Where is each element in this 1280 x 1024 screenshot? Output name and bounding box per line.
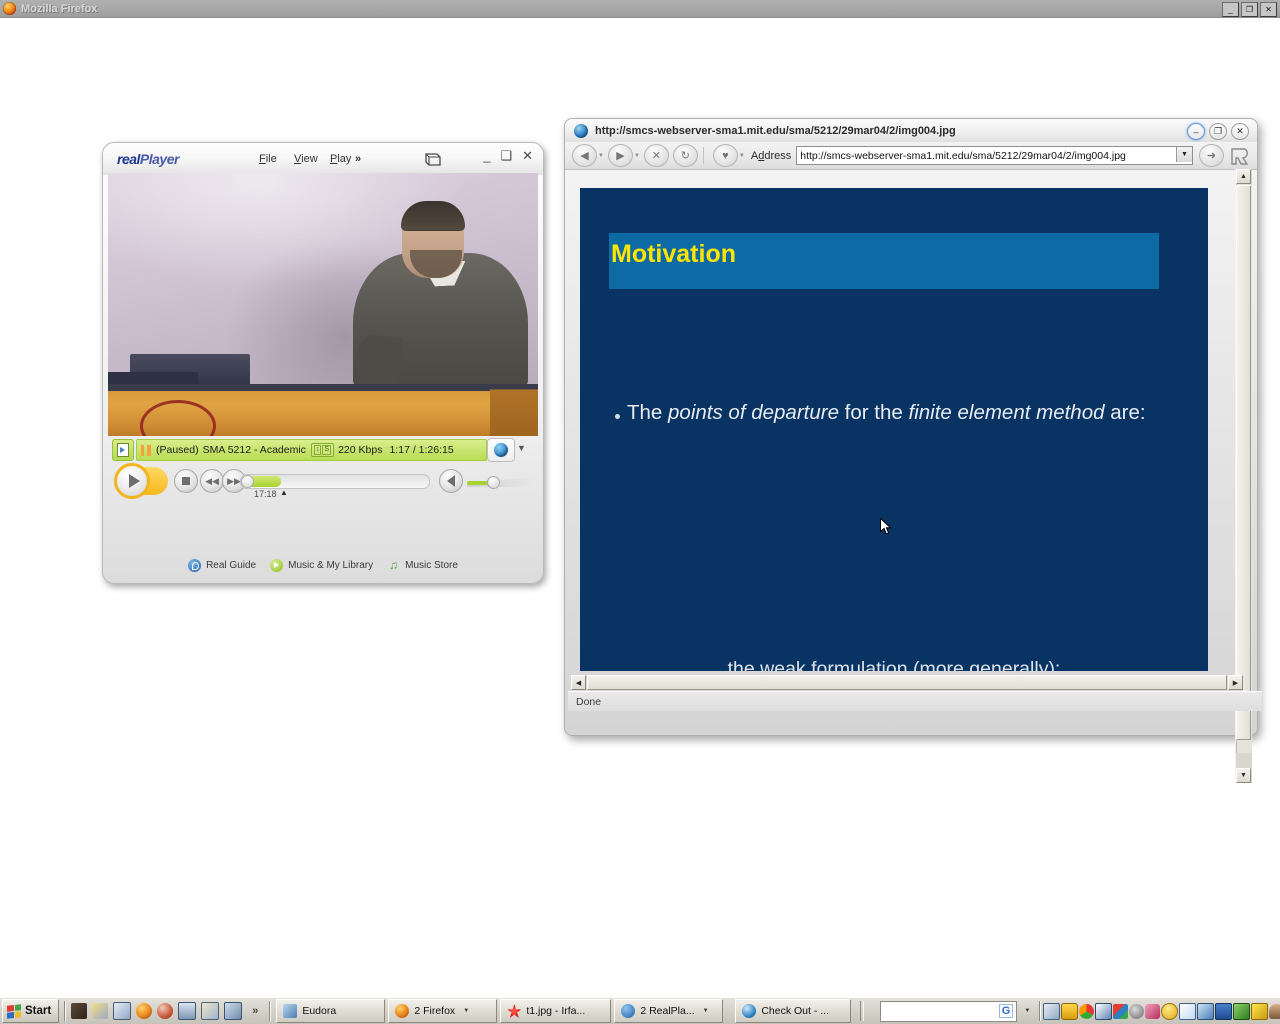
taskbar-item-firefox[interactable]: 2 Firefox ▼ — [388, 999, 497, 1023]
realplayer-menu-overflow[interactable]: » — [355, 153, 361, 165]
search-input[interactable]: G — [880, 1001, 1017, 1022]
realplayer-logo-real: real — [117, 151, 140, 167]
browser-titlebar: http://smcs-webserver-sma1.mit.edu/sma/5… — [565, 119, 1257, 142]
realplayer-maximize-button[interactable]: ❑ — [500, 151, 512, 161]
tray-icon-4[interactable] — [1095, 1003, 1112, 1020]
quicklaunch-overflow-button[interactable]: » — [252, 1005, 258, 1017]
eq-right-glyph: S — [322, 445, 331, 455]
video-display[interactable] — [108, 173, 538, 436]
browser-toolbar: ◀ ▼ ▶ ▼ ✕ ↻ ♥ ▼ Address http://smcs-webs… — [565, 142, 1257, 170]
real-logo-icon[interactable] — [1228, 145, 1251, 166]
scroll-left-button[interactable]: ◀ — [571, 675, 586, 690]
realplayer-transport-controls: ◀◀ ▶▶ 17:18 ▲ — [112, 465, 534, 501]
music-library-icon — [270, 559, 283, 572]
realplayer-window: realPlayer FFileile View Play » _ ❑ ✕ — [102, 142, 544, 584]
music-store-icon: ♫ — [387, 559, 400, 572]
mouse-cursor — [880, 518, 892, 536]
realplayer-menu-play[interactable]: Play — [330, 153, 351, 165]
toolbar-separator — [703, 147, 704, 164]
go-button[interactable]: ➜ — [1199, 144, 1224, 167]
realplayer-logo: realPlayer — [117, 151, 179, 167]
tray-icon-3[interactable] — [1079, 1004, 1094, 1019]
address-value: http://smcs-webserver-sma1.mit.edu/sma/5… — [800, 150, 1126, 162]
scroll-right-button[interactable]: ▶ — [1228, 675, 1243, 690]
lecturer-arm — [356, 334, 403, 388]
bullet-dot-icon — [615, 414, 620, 419]
address-dropdown-icon[interactable]: ▼ — [1176, 147, 1192, 162]
browser-horizontal-scrollbar[interactable]: ◀ ▶ — [571, 675, 1243, 691]
quicklaunch-icon-7[interactable] — [201, 1002, 219, 1020]
taskbar-item-realplayer-dropdown-icon[interactable]: ▼ — [703, 1008, 709, 1014]
windows-logo-icon — [7, 1004, 21, 1018]
tray-icon-1[interactable] — [1043, 1003, 1060, 1020]
podium — [108, 384, 538, 436]
lecturer-glasses — [408, 230, 460, 240]
tray-shield-icon[interactable] — [1215, 1003, 1232, 1020]
taskbar-item-firefox-label: 2 Firefox — [414, 1005, 455, 1017]
quicklaunch-icon-6[interactable] — [178, 1002, 196, 1020]
realplayer-status-row: (Paused) SMA 5212 - Academic ↕ S 220 Kbp… — [112, 439, 534, 461]
stop-button[interactable]: ✕ — [644, 144, 669, 167]
previous-button[interactable]: ◀◀ — [200, 469, 224, 493]
browser-status-text: Done — [576, 696, 601, 708]
seek-time-label: 17:18 — [254, 489, 277, 499]
tray-icon-9[interactable] — [1179, 1003, 1196, 1020]
eq-left-glyph: ↕ — [314, 445, 322, 455]
realplayer-shortcut-links: Real Guide Music & My Library ♫ Music St… — [103, 554, 543, 576]
bullet-mid: for the — [839, 401, 909, 424]
seek-slider[interactable] — [240, 474, 430, 489]
ie-icon — [742, 1004, 756, 1018]
quicklaunch-icon-1[interactable] — [71, 1003, 87, 1019]
quicklaunch-firefox-icon[interactable] — [136, 1003, 152, 1019]
paused-indicator-icon — [141, 445, 151, 456]
tray-smiley-icon[interactable] — [1161, 1003, 1178, 1020]
seek-marker-icon: ▲ — [280, 488, 288, 497]
volume-icon[interactable] — [439, 469, 463, 493]
browser-window-buttons: – ❐ ✕ — [1187, 123, 1249, 140]
taskbar-separator-2 — [269, 1001, 271, 1021]
real-guide-icon — [188, 559, 201, 572]
taskbar-item-realplayer-label: 2 RealPla... — [640, 1005, 694, 1017]
favorites-dropdown-icon[interactable]: ▼ — [739, 153, 745, 159]
real-guide-link[interactable]: Real Guide — [188, 559, 256, 572]
realplayer-menu-file[interactable]: FFileile — [259, 153, 277, 165]
tray-icon-10[interactable] — [1197, 1003, 1214, 1020]
scroll-down-button[interactable]: ▼ — [1236, 768, 1251, 783]
realplayer-globe-button[interactable] — [487, 438, 515, 462]
taskbar: Start » Eudora 2 Firefox ▼ — [0, 997, 1280, 1024]
hscroll-thumb[interactable] — [587, 675, 1227, 690]
firefox-maximize-button[interactable]: ❐ — [1241, 2, 1258, 17]
start-button[interactable]: Start — [2, 999, 59, 1023]
quicklaunch-icon-3[interactable] — [113, 1002, 131, 1020]
slide-bullet-text: The points of departure for the finite e… — [627, 398, 1157, 428]
browser-minimize-button[interactable]: – — [1187, 123, 1205, 140]
forward-dropdown-icon[interactable]: ▼ — [634, 153, 640, 159]
address-input[interactable]: http://smcs-webserver-sma1.mit.edu/sma/5… — [796, 146, 1193, 165]
bullet-prefix: The — [627, 401, 668, 424]
browser-status-bar: Done — [568, 691, 1262, 711]
slide-page-content: Motivation The points of departure for t… — [580, 188, 1208, 671]
stream-quality-icon: ↕ S — [311, 443, 334, 457]
firefox-close-button[interactable]: ✕ — [1260, 2, 1277, 17]
browser-window-icon — [574, 124, 588, 138]
real-guide-label: Real Guide — [206, 560, 256, 571]
browser-title: http://smcs-webserver-sma1.mit.edu/sma/5… — [595, 125, 956, 137]
time-label: 1:17 / 1:26:15 — [389, 444, 453, 456]
realplayer-menu-view[interactable]: View — [294, 153, 318, 165]
bitrate-label: 220 Kbps — [338, 444, 382, 456]
music-library-link[interactable]: Music & My Library — [270, 559, 373, 572]
realplayer-window-buttons: _ ❑ ✕ — [483, 151, 533, 161]
search-dropdown-icon[interactable]: ▼ — [1024, 1008, 1030, 1014]
volume-slider[interactable] — [467, 475, 535, 487]
firefox-icon — [3, 2, 16, 15]
realplayer-logo-player: Player — [140, 151, 179, 167]
lecturer-hair — [401, 201, 465, 231]
slide-subline-1: the weak formulation (more generally); — [580, 658, 1208, 671]
realplayer-titlebar: realPlayer FFileile View Play » _ ❑ ✕ — [103, 143, 543, 175]
quicklaunch-icon-8[interactable] — [224, 1002, 242, 1020]
tray-icon-13[interactable] — [1251, 1003, 1268, 1020]
firefox-app-title: Mozilla Firefox — [21, 3, 97, 15]
refresh-button[interactable]: ↻ — [673, 144, 698, 167]
taskbar-task-list: Eudora 2 Firefox ▼ t1.jpg - Irfa... 2 Re… — [276, 999, 1035, 1023]
tray-icon-5[interactable] — [1113, 1004, 1128, 1019]
realplayer-globe-dropdown-icon[interactable]: ▼ — [517, 443, 526, 453]
firefox-app-titlebar: Mozilla Firefox _ ❐ ✕ — [0, 0, 1280, 18]
music-store-link[interactable]: ♫ Music Store — [387, 559, 458, 572]
taskbar-separator-3 — [860, 1001, 864, 1021]
realplayer-status-display: (Paused) SMA 5212 - Academic ↕ S 220 Kbp… — [136, 439, 487, 461]
tray-icon-7[interactable] — [1145, 1004, 1160, 1019]
browser-maximize-button[interactable]: ❐ — [1209, 123, 1227, 140]
taskbar-item-realplayer[interactable]: 2 RealPla... ▼ — [614, 999, 723, 1023]
desktop-screen: Mozilla Firefox _ ❐ ✕ realPlayer FFileil… — [0, 0, 1280, 1024]
podium-side — [490, 384, 538, 436]
firefox-minimize-button[interactable]: _ — [1222, 2, 1239, 17]
quicklaunch-icon-5[interactable] — [157, 1003, 173, 1019]
slide-body: The points of departure for the finite e… — [580, 188, 1208, 671]
taskbar-item-checkout[interactable]: Check Out - ... — [735, 999, 851, 1023]
tray-icon-6[interactable] — [1129, 1004, 1144, 1019]
stop-button[interactable] — [174, 469, 198, 493]
back-button[interactable]: ◀ — [572, 144, 597, 167]
start-button-label: Start — [25, 1005, 51, 1017]
tray-icon-12[interactable] — [1233, 1003, 1250, 1020]
firefox-window-buttons: _ ❐ ✕ — [1222, 2, 1277, 17]
music-store-label: Music Store — [405, 560, 458, 571]
playback-state: (Paused) — [156, 444, 199, 456]
browser-close-button[interactable]: ✕ — [1231, 123, 1249, 140]
play-button[interactable] — [114, 463, 166, 499]
clip-info-icon[interactable] — [112, 439, 134, 461]
tray-warning-icon[interactable] — [1061, 1003, 1078, 1020]
bullet-suffix: are: — [1105, 401, 1146, 424]
taskbar-item-checkout-label: Check Out - ... — [761, 1005, 829, 1017]
realplayer-minimize-button[interactable]: _ — [483, 151, 490, 161]
realplayer-panel-toggle-icon[interactable] — [423, 149, 443, 169]
taskbar-item-eudora[interactable]: Eudora — [276, 999, 385, 1023]
scroll-up-button[interactable]: ▲ — [1236, 169, 1251, 184]
search-badge-icon: G — [999, 1004, 1014, 1018]
quicklaunch-icon-2[interactable] — [92, 1003, 108, 1019]
taskbar-item-irfanview[interactable]: t1.jpg - Irfa... — [500, 999, 611, 1023]
tray-user-icon[interactable] — [1269, 1004, 1280, 1019]
favorites-button[interactable]: ♥ — [713, 144, 738, 167]
music-library-label: Music & My Library — [288, 560, 373, 571]
taskbar-separator-1 — [64, 1001, 66, 1021]
firefox-icon — [395, 1004, 409, 1018]
bullet-emphasis-1: points of departure — [668, 401, 839, 424]
taskbar-item-firefox-dropdown-icon[interactable]: ▼ — [463, 1008, 469, 1014]
address-label: Address — [751, 150, 791, 162]
irfanview-icon — [507, 1004, 521, 1018]
forward-button[interactable]: ▶ — [608, 144, 633, 167]
taskbar-item-irfanview-label: t1.jpg - Irfa... — [526, 1005, 585, 1017]
bullet-emphasis-2: finite element method — [909, 401, 1105, 424]
taskbar-item-eudora-label: Eudora — [302, 1005, 336, 1017]
realplayer-close-button[interactable]: ✕ — [522, 151, 533, 161]
eudora-icon — [283, 1004, 297, 1018]
clip-title: SMA 5212 - Academic — [203, 444, 306, 456]
back-dropdown-icon[interactable]: ▼ — [598, 153, 604, 159]
vscroll-thumb[interactable] — [1236, 185, 1251, 740]
system-tray — [1039, 1001, 1280, 1021]
quick-launch-bar — [71, 1002, 242, 1020]
realplayer-icon — [621, 1004, 635, 1018]
